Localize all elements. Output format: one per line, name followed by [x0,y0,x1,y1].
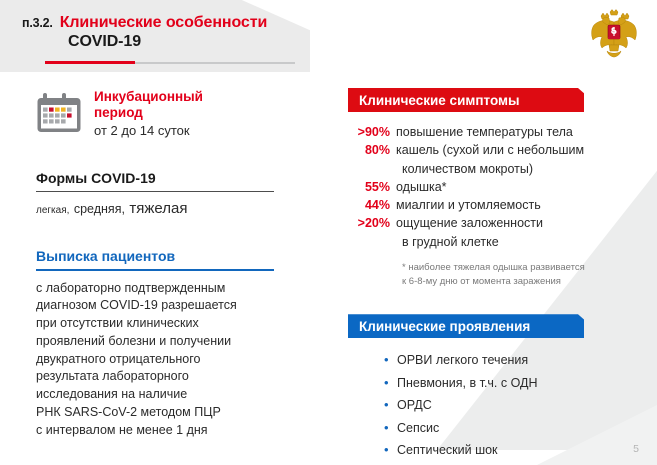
discharge-line: исследования на наличие [36,386,316,404]
title-underline [45,61,295,64]
form-value-moderate: средняя, [74,202,125,216]
list-item: • Пневмония, в т.ч. с ОДН [384,372,643,395]
symptom-percent: >90% [348,123,396,141]
slide: п.3.2. Клинические особенности COVID-19 [0,0,657,465]
manifestation-label: ОРВИ легкого течения [397,350,528,372]
russian-federation-health-ministry-emblem [587,8,641,60]
clinical-manifestations-list: • ОРВИ легкого течения • Пневмония, в т.… [348,349,643,462]
discharge-body: с лабораторно подтвержденным диагнозом C… [36,280,316,440]
footnote-line: * наиболее тяжелая одышка развивается [402,261,643,275]
discharge-line: с интервалом не менее 1 дня [36,422,316,440]
incubation-title-line2: период [94,105,203,121]
list-item: • Септический шок [384,439,643,462]
list-item: • ОРДС [384,394,643,417]
manifestation-label: Пневмония, в т.ч. с ОДН [397,373,538,395]
discharge-line: с лабораторно подтвержденным [36,280,316,298]
discharge-line: диагнозом COVID-19 разрешается [36,297,316,315]
discharge-line: проявлений болезни и получении [36,333,316,351]
symptom-row: >90% повышение температуры тела [348,123,643,141]
symptom-label-continued: в грудной клетке [348,233,643,251]
bullet-icon: • [384,372,397,394]
incubation-text: Инкубационный период от 2 до 14 суток [94,88,203,138]
forms-divider [36,191,274,193]
title-underline-red [45,61,135,64]
clinical-manifestations-block: Клинические проявления • ОРВИ легкого те… [348,314,643,462]
footnote-line: к 6-8-му дню от момента заражения [402,275,643,289]
symptom-label-continued: количеством мокроты) [348,160,643,178]
manifestation-label: Септический шок [397,440,498,462]
bullet-icon: • [384,417,397,439]
symptom-row: 44% миалгии и утомляемость [348,196,643,214]
discharge-line: при отсутствии клинических [36,315,316,333]
page-title: п.3.2. Клинические особенности [22,14,420,32]
symptom-percent: 80% [348,141,396,159]
symptom-label: миалгии и утомляемость [396,196,541,214]
bullet-icon: • [384,349,397,371]
calendar-icon [36,90,82,136]
symptom-row: 55% одышка* [348,178,643,196]
forms-values: легкая, средняя, тяжелая [36,200,316,218]
symptom-row: >20% ощущение заложенности [348,214,643,232]
incubation-period-block: Инкубационный период от 2 до 14 суток [36,88,316,138]
discharge-line: двукратного отрицательного [36,351,316,369]
forms-block: Формы COVID-19 легкая, средняя, тяжелая [36,170,316,219]
page-title-red: Клинические особенности [60,14,268,32]
manifestation-label: Сепсис [397,418,439,440]
incubation-title-line1: Инкубационный [94,89,203,105]
form-value-mild: легкая, [36,205,69,216]
page-number: 5 [633,443,639,455]
symptom-label: кашель (сухой или с небольшим [396,141,584,159]
discharge-block: Выписка пациентов с лабораторно подтверж… [36,248,316,439]
symptom-percent: 55% [348,178,396,196]
symptom-label: повышение температуры тела [396,123,573,141]
manifestation-label: ОРДС [397,395,432,417]
list-item: • Сепсис [384,417,643,440]
clinical-manifestations-banner: Клинические проявления [348,314,584,338]
symptoms-footnote: * наиболее тяжелая одышка развивается к … [348,261,643,289]
form-value-severe: тяжелая [129,200,187,217]
clinical-symptoms-banner: Клинические симптомы [348,88,584,112]
symptom-label: ощущение заложенности [396,214,543,232]
header: п.3.2. Клинические особенности COVID-19 [0,0,420,78]
right-column: Клинические симптомы >90% повышение темп… [348,88,643,462]
title-underline-gray [135,62,295,64]
discharge-divider [36,269,274,271]
list-item: • ОРВИ легкого течения [384,349,643,372]
symptom-row: 80% кашель (сухой или с небольшим [348,141,643,159]
section-number: п.3.2. [22,16,53,30]
clinical-symptoms-list: >90% повышение температуры тела 80% каше… [348,123,643,251]
symptom-percent: >20% [348,214,396,232]
left-column: Инкубационный период от 2 до 14 суток Фо… [36,88,316,439]
discharge-line: РНК SARS-CoV-2 методом ПЦР [36,404,316,422]
discharge-heading: Выписка пациентов [36,248,316,264]
symptom-percent: 44% [348,196,396,214]
incubation-duration: от 2 до 14 суток [94,123,203,138]
page-title-subject: COVID-19 [68,33,420,51]
forms-heading: Формы COVID-19 [36,170,316,186]
bullet-icon: • [384,394,397,416]
symptom-label: одышка* [396,178,447,196]
bullet-icon: • [384,439,397,461]
discharge-line: результата лабораторного [36,368,316,386]
